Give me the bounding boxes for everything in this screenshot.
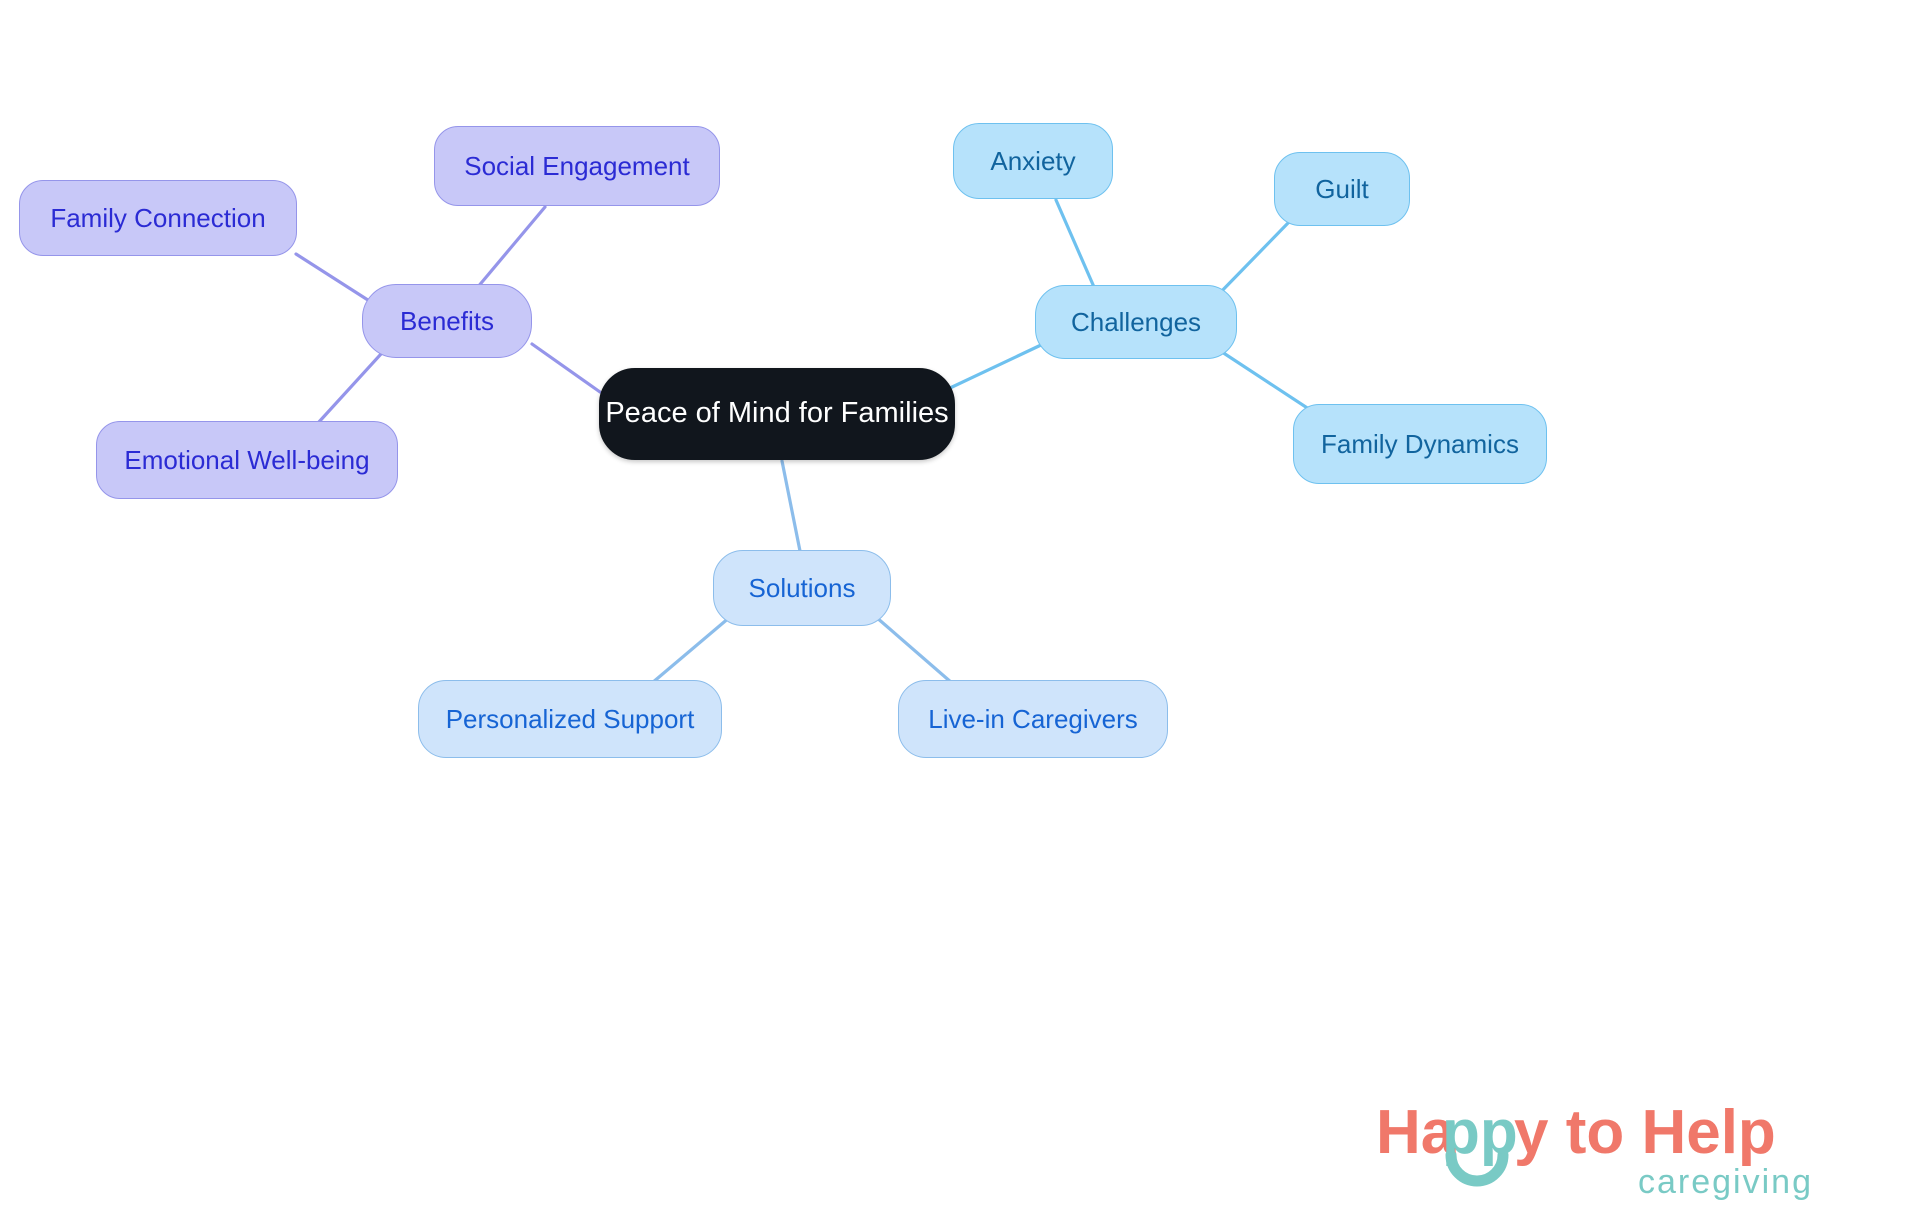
edge-challenges-guilt <box>1215 222 1289 298</box>
edge-challenges-anxiety <box>1056 200 1094 287</box>
node-guilt[interactable]: Guilt <box>1274 152 1410 226</box>
edge-root-solutions <box>782 461 800 551</box>
node-solutions-label: Solutions <box>749 574 856 603</box>
node-challenges[interactable]: Challenges <box>1035 285 1237 359</box>
node-family-connection-label: Family Connection <box>50 204 265 233</box>
node-family-dynamics[interactable]: Family Dynamics <box>1293 404 1547 484</box>
happy-to-help-logo: Ha pp y to Help caregiving <box>1366 1085 1886 1205</box>
edge-challenges-family-dynamics <box>1222 352 1318 415</box>
node-social-engagement-label: Social Engagement <box>464 152 689 181</box>
edge-benefits-emotional-well-being <box>318 354 381 423</box>
node-benefits-label: Benefits <box>400 307 494 336</box>
node-live-in-caregivers-label: Live-in Caregivers <box>928 705 1138 734</box>
edge-root-challenges <box>950 345 1041 388</box>
edge-solutions-personalized-support <box>652 617 730 683</box>
edge-benefits-family-connection <box>296 254 371 302</box>
logo-tagline: caregiving <box>1638 1163 1813 1201</box>
logo-wordmark-part2: pp <box>1442 1098 1518 1167</box>
node-root[interactable]: Peace of Mind for Families <box>599 368 955 460</box>
node-solutions[interactable]: Solutions <box>713 550 891 626</box>
node-root-label: Peace of Mind for Families <box>605 398 948 430</box>
node-emotional-well-being[interactable]: Emotional Well-being <box>96 421 398 499</box>
node-live-in-caregivers[interactable]: Live-in Caregivers <box>898 680 1168 758</box>
edge-root-benefits <box>532 344 600 392</box>
node-benefits[interactable]: Benefits <box>362 284 532 358</box>
node-social-engagement[interactable]: Social Engagement <box>434 126 720 206</box>
node-personalized-support-label: Personalized Support <box>446 705 695 734</box>
node-personalized-support[interactable]: Personalized Support <box>418 680 722 758</box>
node-emotional-well-being-label: Emotional Well-being <box>124 446 369 475</box>
node-anxiety[interactable]: Anxiety <box>953 123 1113 199</box>
node-guilt-label: Guilt <box>1315 175 1368 204</box>
edge-benefits-social-engagement <box>477 207 545 288</box>
node-family-connection[interactable]: Family Connection <box>19 180 297 256</box>
edge-solutions-live-in-caregivers <box>876 617 952 683</box>
mindmap-canvas: Peace of Mind for Families Benefits Fami… <box>0 0 1920 1215</box>
logo-wordmark-part3: y to Help <box>1514 1098 1776 1167</box>
node-challenges-label: Challenges <box>1071 308 1201 337</box>
node-family-dynamics-label: Family Dynamics <box>1321 430 1519 459</box>
node-anxiety-label: Anxiety <box>990 147 1075 176</box>
